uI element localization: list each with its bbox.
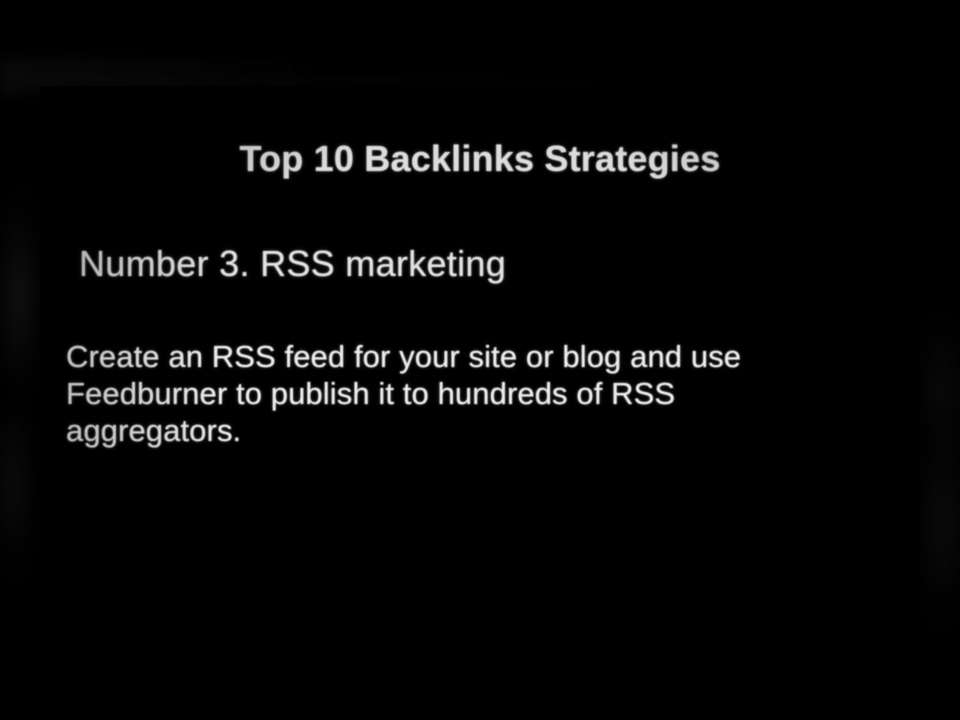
slide-body-line-3: aggregators. (66, 412, 826, 449)
slide-body-line-2: Feedburner to publish it to hundreds of … (66, 375, 826, 412)
slide-subtitle: Number 3. RSS marketing (79, 243, 506, 285)
slide-title: Top 10 Backlinks Strategies (0, 138, 960, 180)
slide-body: Create an RSS feed for your site or blog… (66, 338, 826, 449)
slide-body-line-1: Create an RSS feed for your site or blog… (66, 338, 826, 375)
edge-light-leak-left-lower (0, 400, 42, 590)
video-frame: Top 10 Backlinks Strategies Number 3. RS… (0, 0, 960, 720)
